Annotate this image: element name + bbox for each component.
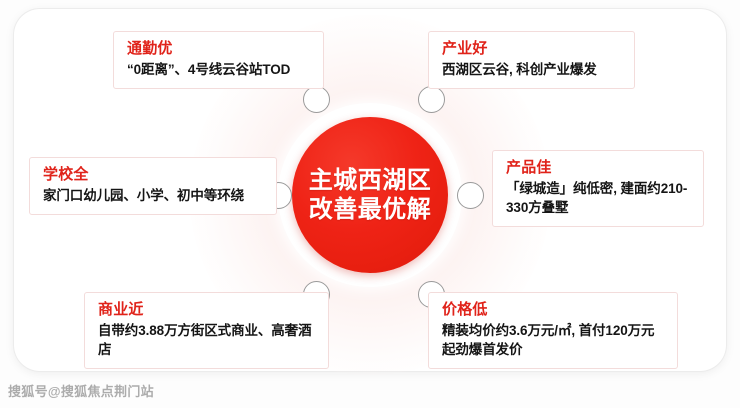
- info-box-product-body: 「绿城造」纯低密, 建面约210-330方叠墅: [506, 179, 692, 217]
- info-box-commute: 通勤优 “0距离”、4号线云谷站TOD: [113, 31, 324, 89]
- info-box-product-title: 产品佳: [506, 158, 692, 177]
- central-hub-circle: 主城西湖区 改善最优解: [292, 117, 448, 273]
- info-box-business: 商业近 自带约3.88万方街区式商业、高奢酒店: [84, 292, 329, 369]
- info-box-product: 产品佳 「绿城造」纯低密, 建面约210-330方叠墅: [492, 150, 704, 227]
- info-box-industry-body: 西湖区云谷, 科创产业爆发: [442, 60, 623, 79]
- info-box-commute-title: 通勤优: [127, 39, 312, 58]
- info-box-school-title: 学校全: [43, 165, 265, 184]
- info-box-price-title: 价格低: [442, 300, 666, 319]
- info-box-business-title: 商业近: [98, 300, 317, 319]
- info-box-school-body: 家门口幼儿园、小学、初中等环绕: [43, 186, 265, 205]
- info-box-industry: 产业好 西湖区云谷, 科创产业爆发: [428, 31, 635, 89]
- info-box-price: 价格低 精装均价约3.6万元/㎡, 首付120万元起劲爆首发价: [428, 292, 678, 369]
- infographic-stage: 主城西湖区 改善最优解 通勤优 “0距离”、4号线云谷站TOD 产业好 西湖区云…: [0, 0, 740, 408]
- info-box-commute-body: “0距离”、4号线云谷站TOD: [127, 60, 312, 79]
- hub-title-line-2: 改善最优解: [309, 195, 432, 224]
- watermark-text: 搜狐号@搜狐焦点荆门站: [8, 381, 154, 400]
- hub-title-line-1: 主城西湖区: [309, 166, 432, 195]
- info-box-school: 学校全 家门口幼儿园、小学、初中等环绕: [29, 157, 277, 215]
- info-box-industry-title: 产业好: [442, 39, 623, 58]
- connector-node-top-left: [303, 86, 330, 113]
- connector-node-right: [457, 182, 484, 209]
- info-box-business-body: 自带约3.88万方街区式商业、高奢酒店: [98, 321, 317, 359]
- connector-node-top-right: [418, 86, 445, 113]
- info-box-price-body: 精装均价约3.6万元/㎡, 首付120万元起劲爆首发价: [442, 321, 666, 359]
